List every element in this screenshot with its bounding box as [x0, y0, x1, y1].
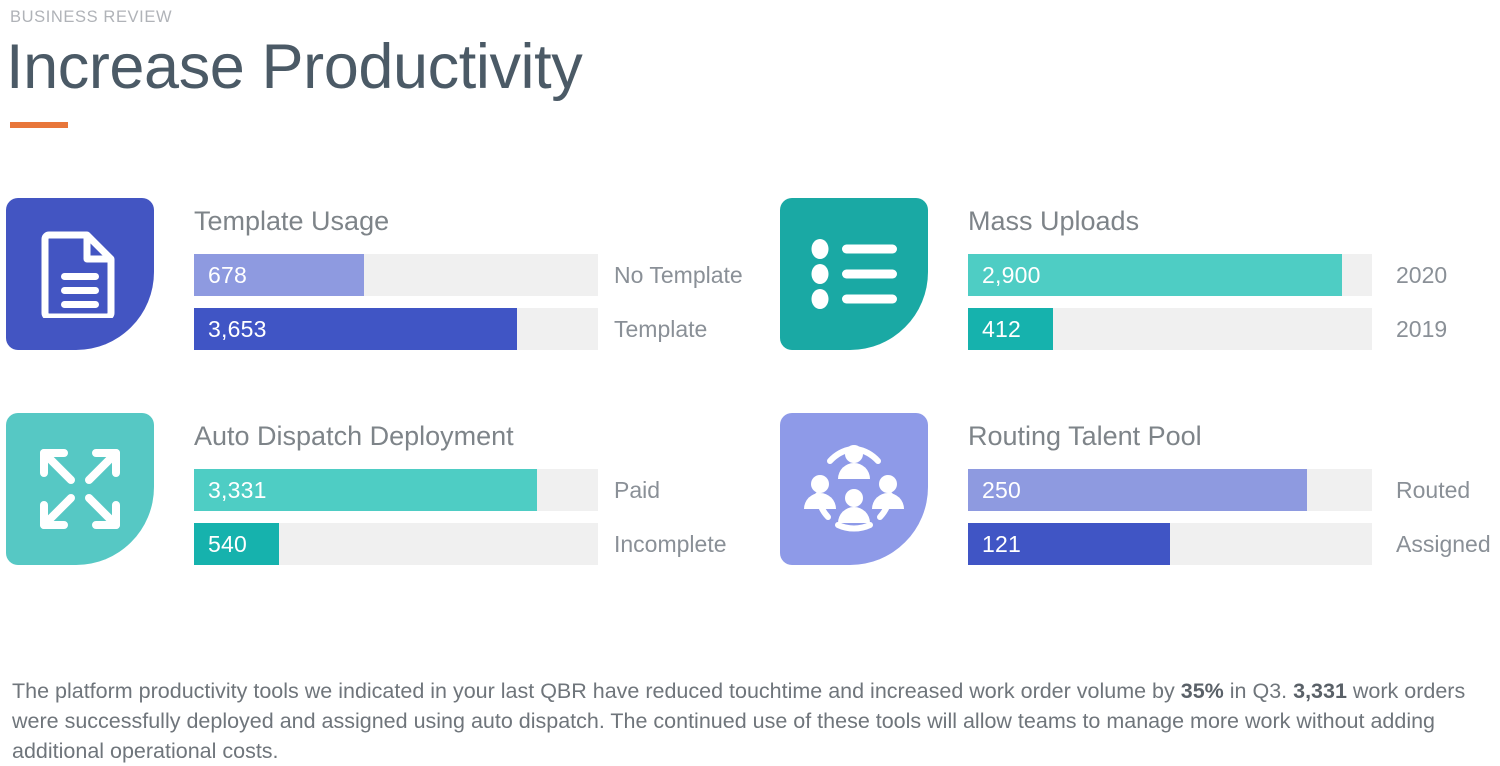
bar-row: 250 Routed — [968, 469, 1494, 511]
bar-track: 678 — [194, 254, 598, 296]
panel-title: Routing Talent Pool — [968, 421, 1202, 452]
bar-row: 2,900 2020 — [968, 254, 1494, 296]
bar-track: 540 — [194, 523, 598, 565]
summary-highlight-count: 3,331 — [1293, 679, 1347, 703]
panel-title: Template Usage — [194, 206, 389, 237]
bar-chart: 2,900 2020 412 2019 — [968, 254, 1494, 362]
bar-category-label: 2020 — [1396, 254, 1447, 296]
bar-track: 250 — [968, 469, 1372, 511]
panel-title: Mass Uploads — [968, 206, 1139, 237]
bar-value: 540 — [208, 523, 247, 565]
bar-value: 121 — [982, 523, 1021, 565]
summary-paragraph: The platform productivity tools we indic… — [12, 676, 1490, 766]
tile-routing-talent-pool — [780, 413, 928, 565]
bar-track: 3,331 — [194, 469, 598, 511]
bar-value: 250 — [982, 469, 1021, 511]
document-icon — [41, 230, 119, 318]
panel-template-usage: Template Usage 678 No Template 3,653 Tem… — [6, 198, 720, 360]
panel-title: Auto Dispatch Deployment — [194, 421, 514, 452]
bar-row: 3,653 Template — [194, 308, 720, 350]
bar-category-label: 2019 — [1396, 308, 1447, 350]
bar-row: 412 2019 — [968, 308, 1494, 350]
page-title: Increase Productivity — [6, 30, 582, 104]
summary-text-part2: in Q3. — [1224, 679, 1293, 703]
bar-value: 3,331 — [208, 469, 267, 511]
bar-chart: 678 No Template 3,653 Template — [194, 254, 720, 362]
bar-value: 2,900 — [982, 254, 1041, 296]
bar-chart: 3,331 Paid 540 Incomplete — [194, 469, 720, 577]
bar-value: 3,653 — [208, 308, 267, 350]
bar-category-label: No Template — [614, 254, 743, 296]
accent-rule — [10, 122, 68, 128]
tile-auto-dispatch — [6, 413, 154, 565]
expand-arrows-icon — [38, 447, 122, 531]
summary-text-part1: The platform productivity tools we indic… — [12, 679, 1181, 703]
bar-row: 121 Assigned — [968, 523, 1494, 565]
people-network-icon — [802, 437, 906, 541]
bar-value: 678 — [208, 254, 247, 296]
bar-chart: 250 Routed 121 Assigned — [968, 469, 1494, 577]
bar-track: 412 — [968, 308, 1372, 350]
bar-category-label: Paid — [614, 469, 660, 511]
panel-routing-talent-pool: Routing Talent Pool 250 Routed 121 Assig… — [780, 413, 1494, 575]
tile-template-usage — [6, 198, 154, 350]
tile-mass-uploads — [780, 198, 928, 350]
bar-category-label: Assigned — [1396, 523, 1491, 565]
bar-category-label: Template — [614, 308, 707, 350]
panel-auto-dispatch-deployment: Auto Dispatch Deployment 3,331 Paid 540 … — [6, 413, 720, 575]
bar-row: 540 Incomplete — [194, 523, 720, 565]
bar-track: 2,900 — [968, 254, 1372, 296]
eyebrow-label: BUSINESS REVIEW — [10, 8, 172, 27]
bar-value: 412 — [982, 308, 1021, 350]
panel-mass-uploads: Mass Uploads 2,900 2020 412 2019 — [780, 198, 1494, 360]
list-icon — [811, 239, 897, 309]
bar-row: 678 No Template — [194, 254, 720, 296]
bar-track: 121 — [968, 523, 1372, 565]
bar-track: 3,653 — [194, 308, 598, 350]
bar-category-label: Incomplete — [614, 523, 727, 565]
bar-row: 3,331 Paid — [194, 469, 720, 511]
summary-highlight-percent: 35% — [1181, 679, 1224, 703]
bar-category-label: Routed — [1396, 469, 1470, 511]
slide-root: BUSINESS REVIEW Increase Productivity Te… — [0, 0, 1500, 766]
